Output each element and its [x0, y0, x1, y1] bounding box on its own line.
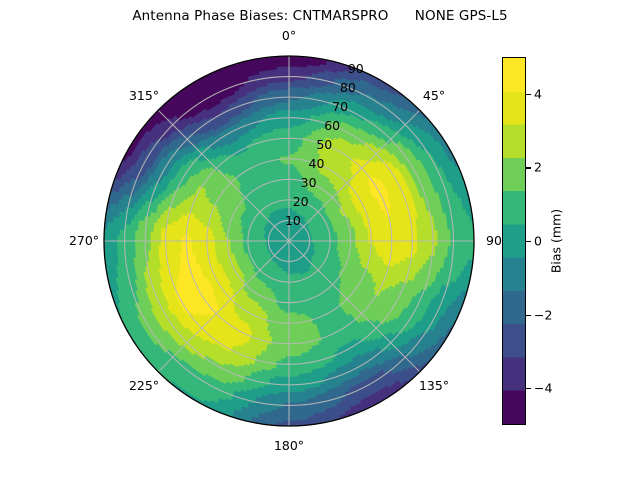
angular-tick-label-180: 180°	[274, 440, 304, 453]
radial-tick-label-30: 30	[301, 177, 317, 190]
colorbar-axis-label: Bias (mm)	[549, 209, 564, 273]
colorbar-tick	[526, 315, 531, 316]
colorbar-tick-label: −2	[534, 307, 552, 322]
colorbar-tick	[526, 167, 531, 168]
polar-grid	[104, 56, 474, 426]
radial-tick-label-90: 90	[348, 63, 364, 76]
figure-canvas: Antenna Phase Biases: CNTMARSPRO NONE GP…	[0, 0, 640, 480]
radial-tick-label-10: 10	[285, 215, 301, 228]
colorbar-gradient	[502, 57, 526, 425]
polar-plot: 0°45°90135°180°225°270°315° 102030405060…	[104, 56, 474, 426]
angular-tick-label-225: 225°	[129, 380, 159, 393]
colorbar: 420−2−4	[502, 57, 526, 425]
angular-tick-label-270: 270°	[69, 235, 99, 248]
colorbar-tick-label: −4	[534, 381, 552, 396]
colorbar-tick-label: 0	[534, 234, 542, 249]
colorbar-tick-label: 2	[534, 160, 542, 175]
radial-tick-label-60: 60	[324, 120, 340, 133]
polar-contour-svg	[104, 56, 474, 426]
colorbar-tick-label: 4	[534, 86, 542, 101]
angular-tick-label-45: 45°	[423, 90, 445, 103]
angular-tick-label-0: 0°	[282, 30, 296, 43]
radial-tick-label-40: 40	[309, 158, 325, 171]
radial-tick-label-20: 20	[293, 196, 309, 209]
colorbar-tick	[526, 388, 531, 389]
radial-tick-label-80: 80	[340, 82, 356, 95]
radial-tick-label-50: 50	[316, 139, 332, 152]
radial-tick-label-70: 70	[332, 101, 348, 114]
colorbar-tick	[526, 241, 531, 242]
page-title: Antenna Phase Biases: CNTMARSPRO NONE GP…	[0, 8, 640, 24]
colorbar-tick	[526, 94, 531, 95]
angular-tick-label-315: 315°	[129, 90, 159, 103]
angular-tick-label-135: 135°	[419, 380, 449, 393]
angular-tick-label-90: 90	[486, 235, 502, 248]
